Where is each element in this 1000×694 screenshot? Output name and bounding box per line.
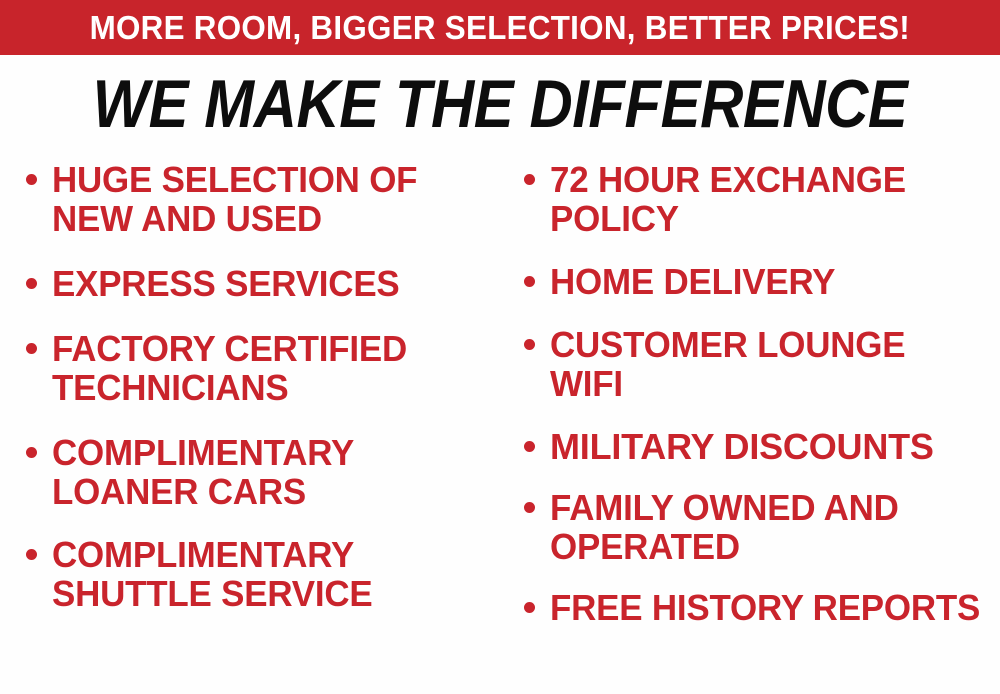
benefits-column-left: HUGE SELECTION OF NEW AND USED EXPRESS S… [18, 160, 498, 613]
bullet-dot-icon [524, 276, 535, 287]
list-item: FREE HISTORY REPORTS [516, 588, 1000, 627]
list-item: COMPLIMENTARY LOANER CARS [18, 433, 498, 511]
list-item-label: EXPRESS SERVICES [52, 264, 485, 303]
bullet-dot-icon [26, 174, 37, 185]
list-item: FAMILY OWNED AND OPERATED [516, 488, 1000, 566]
bullet-dot-icon [524, 174, 535, 185]
list-item: MILITARY DISCOUNTS [516, 427, 1000, 466]
page-title: WE MAKE THE DIFFERENCE [60, 68, 940, 140]
list-item-label: FACTORY CERTIFIED TECHNICIANS [52, 329, 485, 407]
list-item-label: HOME DELIVERY [550, 262, 987, 301]
list-item-label: CUSTOMER LOUNGE WIFI [550, 325, 987, 403]
list-item: 72 HOUR EXCHANGE POLICY [516, 160, 1000, 238]
header-tagline: MORE ROOM, BIGGER SELECTION, BETTER PRIC… [90, 11, 910, 44]
bullet-dot-icon [524, 441, 535, 452]
promotional-banner: MORE ROOM, BIGGER SELECTION, BETTER PRIC… [0, 0, 1000, 694]
list-item: FACTORY CERTIFIED TECHNICIANS [18, 329, 498, 407]
bullet-dot-icon [524, 339, 535, 350]
list-item-label: FREE HISTORY REPORTS [550, 588, 987, 627]
bullet-dot-icon [524, 502, 535, 513]
bullet-dot-icon [26, 343, 37, 354]
bullet-dot-icon [524, 602, 535, 613]
header-bar: MORE ROOM, BIGGER SELECTION, BETTER PRIC… [0, 0, 1000, 55]
list-item-label: FAMILY OWNED AND OPERATED [550, 488, 987, 566]
list-item: HUGE SELECTION OF NEW AND USED [18, 160, 498, 238]
list-item-label: MILITARY DISCOUNTS [550, 427, 1000, 466]
list-item: HOME DELIVERY [516, 262, 1000, 301]
bullet-dot-icon [26, 447, 37, 458]
list-item: COMPLIMENTARY SHUTTLE SERVICE [18, 535, 498, 613]
benefits-column-right: 72 HOUR EXCHANGE POLICY HOME DELIVERY CU… [516, 160, 1000, 627]
list-item-label: HUGE SELECTION OF NEW AND USED [52, 160, 485, 238]
list-item: EXPRESS SERVICES [18, 264, 498, 303]
list-item-label: COMPLIMENTARY LOANER CARS [52, 433, 485, 511]
bullet-dot-icon [26, 278, 37, 289]
list-item: CUSTOMER LOUNGE WIFI [516, 325, 1000, 403]
bullet-dot-icon [26, 549, 37, 560]
list-item-label: 72 HOUR EXCHANGE POLICY [550, 160, 987, 238]
list-item-label: COMPLIMENTARY SHUTTLE SERVICE [52, 535, 485, 613]
